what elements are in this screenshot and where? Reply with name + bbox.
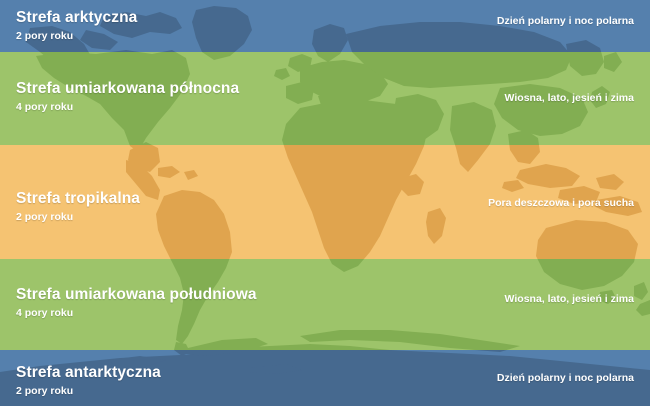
zone-label-arctic: Strefa arktyczna 2 pory roku (16, 9, 137, 42)
zone-season-tropical: Pora deszczowa i pora sucha (488, 197, 634, 209)
zone-subtitle-arctic: 2 pory roku (16, 30, 137, 42)
zone-subtitle-northern-temperate: 4 pory roku (16, 101, 239, 113)
zone-title-arctic: Strefa arktyczna (16, 9, 137, 27)
zone-subtitle-antarctic: 2 pory roku (16, 385, 161, 397)
zone-subtitle-southern-temperate: 4 pory roku (16, 307, 257, 319)
zone-season-northern-temperate: Wiosna, lato, jesień i zima (505, 92, 634, 104)
climate-zones-map: Strefa arktyczna 2 pory roku Dzień polar… (0, 0, 650, 406)
zone-label-northern-temperate: Strefa umiarkowana północna 4 pory roku (16, 80, 239, 113)
zone-season-antarctic: Dzień polarny i noc polarna (497, 372, 634, 384)
zone-subtitle-tropical: 2 pory roku (16, 211, 140, 223)
zone-season-southern-temperate: Wiosna, lato, jesień i zima (505, 293, 634, 305)
zone-season-arctic: Dzień polarny i noc polarna (497, 15, 634, 27)
zone-title-southern-temperate: Strefa umiarkowana południowa (16, 286, 257, 304)
zone-label-antarctic: Strefa antarktyczna 2 pory roku (16, 364, 161, 397)
zone-title-antarctic: Strefa antarktyczna (16, 364, 161, 382)
zone-label-southern-temperate: Strefa umiarkowana południowa 4 pory rok… (16, 286, 257, 319)
zone-title-northern-temperate: Strefa umiarkowana północna (16, 80, 239, 98)
zone-title-tropical: Strefa tropikalna (16, 190, 140, 208)
zone-label-tropical: Strefa tropikalna 2 pory roku (16, 190, 140, 223)
